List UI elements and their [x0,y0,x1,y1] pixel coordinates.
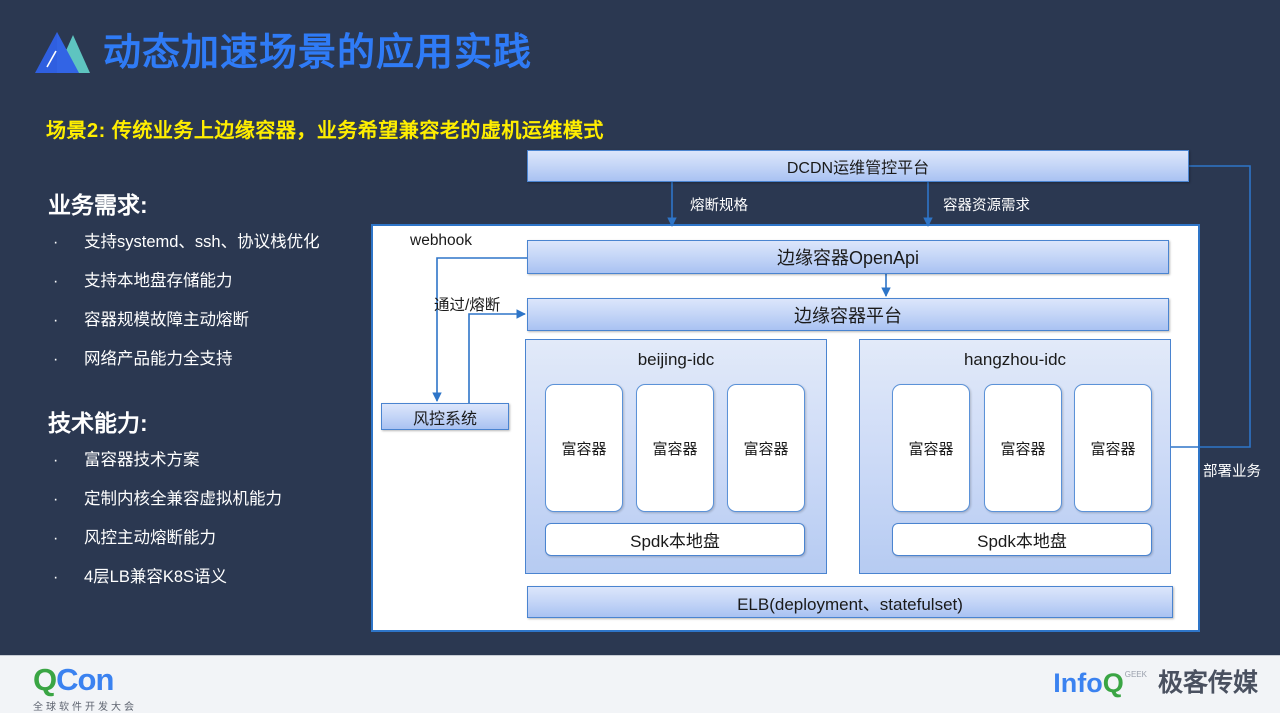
spdk-local-disk-box[interactable]: Spdk本地盘 [545,523,805,556]
infoq-chinese-name: 极客传媒 [1158,671,1258,696]
qcon-logo: QCon 全球软件开发大会 [33,664,137,713]
slide-footer: QCon 全球软件开发大会 InfoQ GEEK 极客传媒 [0,655,1280,712]
infoq-tm-mark: GEEK [1125,670,1147,679]
infoq-letters-info: Info [1053,668,1102,698]
pod-box[interactable]: 富容器 [1074,384,1152,512]
risk-control-system-box[interactable]: 风控系统 [381,403,509,430]
infoq-letter-q: Q [1103,668,1124,698]
qcon-wordmark: QCon [33,664,137,695]
region-label: beijing-idc [526,350,826,370]
edge-label-webhook: webhook [410,232,472,250]
region-hangzhou-idc: hangzhou-idc 富容器 富容器 富容器 Spdk本地盘 [859,339,1171,574]
qcon-letter-q: Q [33,662,56,697]
slide-canvas: 动态加速场景的应用实践 场景2: 传统业务上边缘容器，业务希望兼容老的虚机运维模… [0,0,1280,655]
region-label: hangzhou-idc [860,350,1170,370]
infoq-logo: InfoQ GEEK 极客传媒 [1053,670,1258,697]
architecture-diagram: DCDN运维管控平台 熔断规格 容器资源需求 webhook 通过/熔断 部署业… [0,0,1280,655]
qcon-subtitle: 全球软件开发大会 [33,698,137,713]
edge-label-fuse-spec: 熔断规格 [690,194,748,215]
pod-box[interactable]: 富容器 [892,384,970,512]
dcdn-ops-platform-box[interactable]: DCDN运维管控平台 [527,150,1189,182]
edge-label-deploy-business: 部署业务 [1203,460,1261,481]
region-beijing-idc: beijing-idc 富容器 富容器 富容器 Spdk本地盘 [525,339,827,574]
qcon-letters-con: Con [56,662,113,697]
pod-box[interactable]: 富容器 [727,384,805,512]
edge-label-container-resource: 容器资源需求 [943,194,1030,215]
pod-box[interactable]: 富容器 [636,384,714,512]
edge-container-platform-box[interactable]: 边缘容器平台 [527,298,1169,331]
elb-box[interactable]: ELB(deployment、statefulset) [527,586,1173,618]
infoq-wordmark: InfoQ [1053,670,1124,697]
pod-box[interactable]: 富容器 [984,384,1062,512]
pod-box[interactable]: 富容器 [545,384,623,512]
edge-container-openapi-box[interactable]: 边缘容器OpenApi [527,240,1169,274]
edge-label-pass-or-fuse: 通过/熔断 [434,293,500,315]
spdk-local-disk-box[interactable]: Spdk本地盘 [892,523,1152,556]
